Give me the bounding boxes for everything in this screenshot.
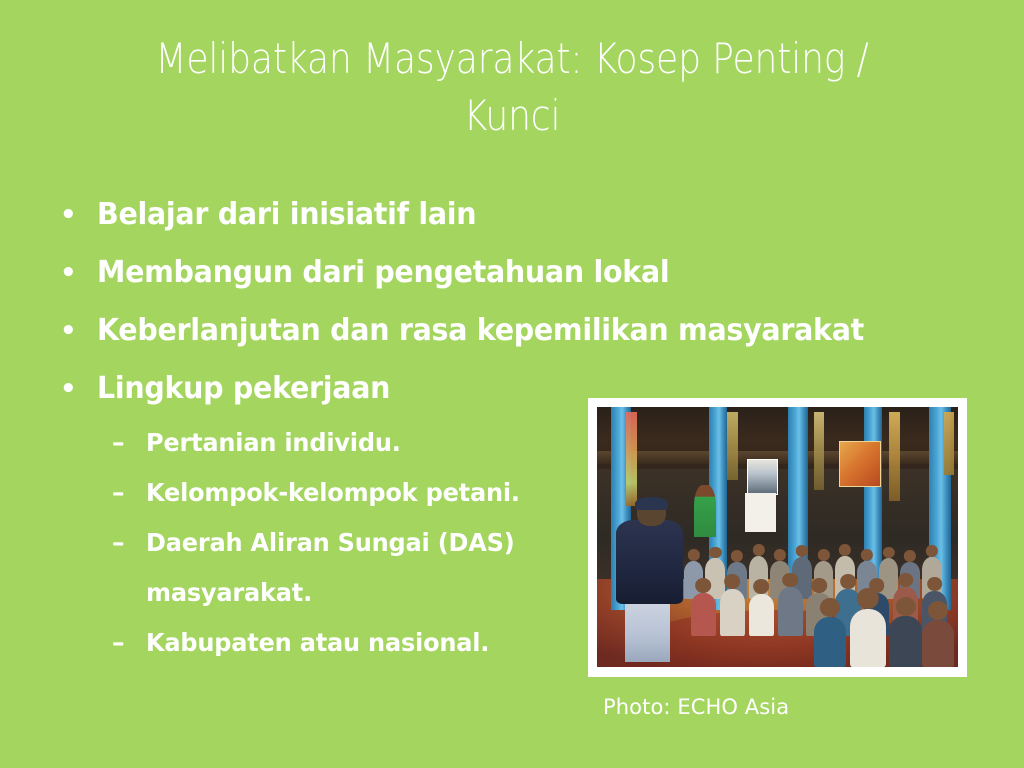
photo-speaker-legs: [625, 597, 670, 661]
sub-bullet-item-3: – Daerah Aliran Sungai (DAS) masyarakat.: [46, 518, 606, 618]
bullet-item-1-label: Belajar dari inisiatif lain: [97, 186, 476, 244]
sub-bullet-item-1-label: Pertanian individu.: [146, 418, 401, 468]
bullet-dot-icon: •: [60, 244, 74, 302]
photo-hanging-decoration: [889, 412, 900, 500]
photo-hanging-decoration: [814, 412, 825, 490]
community-meeting-photo: [597, 407, 958, 667]
slide-title: Melibatkan Masyarakat: Kosep Penting / K…: [123, 30, 900, 144]
photo-white-paper: [745, 493, 776, 532]
bullet-dash-icon: –: [112, 518, 134, 568]
bullet-dot-icon: •: [60, 360, 74, 418]
sub-bullet-item-3-label: Daerah Aliran Sungai (DAS) masyarakat.: [146, 518, 588, 618]
photo-wall-banner: [839, 441, 881, 487]
photo-hanging-decoration: [944, 412, 955, 474]
bullet-item-4-label: Lingkup pekerjaan: [97, 360, 390, 418]
photo-speaker-cap: [635, 497, 668, 510]
bullet-item-3: • Keberlanjutan dan rasa kepemilikan mas…: [46, 302, 1006, 360]
sub-bullet-item-1: – Pertanian individu.: [46, 418, 606, 468]
sub-bullet-item-4: – Kabupaten atau nasional.: [46, 618, 606, 668]
bullet-dash-icon: –: [112, 418, 134, 468]
photo-hanging-decoration: [727, 412, 738, 480]
bullet-dot-icon: •: [60, 186, 74, 244]
photo-standing-speaker: [615, 501, 687, 662]
photo-hanging-decoration: [626, 412, 637, 506]
photo-speaker-torso: [616, 520, 682, 604]
bullet-item-2-label: Membangun dari pengetahuan lokal: [97, 244, 669, 302]
photo-portrait-poster: [747, 459, 778, 495]
photo-block: [588, 398, 967, 677]
bullet-dot-icon: •: [60, 302, 74, 360]
photo-caption: Photo: ECHO Asia: [603, 694, 789, 720]
photo-frame: [588, 398, 967, 677]
bullet-item-2: • Membangun dari pengetahuan lokal: [46, 244, 1006, 302]
bullet-dash-icon: –: [112, 618, 134, 668]
sub-bullet-item-2-label: Kelompok-kelompok petani.: [146, 468, 520, 518]
bullet-item-3-label: Keberlanjutan dan rasa kepemilikan masya…: [97, 302, 864, 360]
bullet-item-1: • Belajar dari inisiatif lain: [46, 186, 1006, 244]
slide-canvas: Melibatkan Masyarakat: Kosep Penting / K…: [0, 0, 1024, 768]
photo-standing-person-green: [694, 485, 716, 537]
sub-bullet-item-4-label: Kabupaten atau nasional.: [146, 618, 489, 668]
bullet-dash-icon: –: [112, 468, 134, 518]
sub-bullet-item-2: – Kelompok-kelompok petani.: [46, 468, 606, 518]
